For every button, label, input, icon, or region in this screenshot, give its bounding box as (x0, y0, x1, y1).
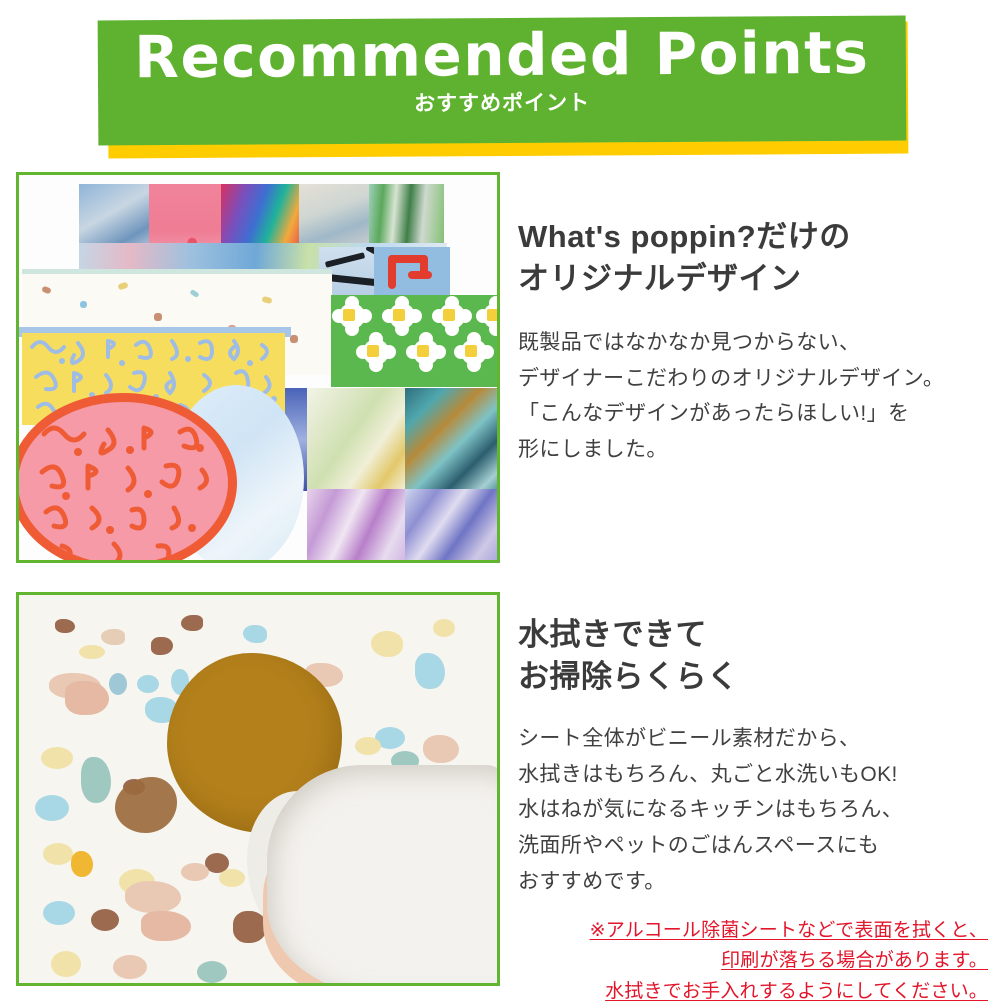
feature-2-caution-note: ※アルコール除菌シートなどで表面を拭くと、 印刷が落ちる場合があります。 水拭き… (518, 900, 988, 1008)
banner-text-group: Recommended Points おすすめポイント (98, 16, 907, 146)
squiggle-pattern-icon (22, 408, 232, 560)
sheet-flower-green (331, 295, 497, 387)
sheet-marble-purple (307, 489, 407, 560)
photo-canvas-wipe-demo (19, 595, 497, 983)
flower-center (417, 345, 429, 357)
terrazzo-chip (181, 863, 209, 881)
feature-1-heading: What's poppin?だけの オリジナルデザイン (518, 172, 988, 299)
terrazzo-chip (80, 301, 87, 308)
flower-center (487, 309, 497, 321)
flower-center (465, 345, 477, 357)
red-stroke (408, 271, 432, 279)
terrazzo-chip (189, 289, 199, 298)
flower-center (443, 309, 455, 321)
terrazzo-chip (197, 961, 227, 983)
page-subtitle: おすすめポイント (414, 87, 590, 118)
photo-canvas-design-sheets (19, 175, 497, 560)
terrazzo-chip (41, 747, 73, 769)
terrazzo-chip (125, 881, 181, 913)
feature-2-text-column: 水拭きできて お掃除らくらく シート全体がビニール素材だから、 水拭きはもちろん… (518, 592, 988, 1008)
feature-1-body: 既製品ではなかなか見つからない、 デザイナーこだわりのオリジナルデザイン。 「こ… (518, 299, 988, 468)
terrazzo-chip (154, 313, 162, 321)
terrazzo-chip (355, 737, 381, 755)
terrazzo-chip (219, 869, 245, 887)
feature-photo-design-sheets (16, 172, 500, 563)
sheet-round-pink-squiggle (19, 393, 237, 560)
terrazzo-chip (137, 675, 159, 693)
terrazzo-chip (117, 282, 128, 291)
terrazzo-chip (43, 901, 75, 925)
terrazzo-chip (261, 296, 272, 304)
feature-photo-wipe-demo (16, 592, 500, 986)
terrazzo-chip (91, 909, 119, 931)
terrazzo-chip (71, 851, 93, 877)
terrazzo-chip (415, 653, 445, 689)
page-title: Recommended Points (134, 24, 869, 88)
flower-center (393, 309, 405, 321)
feature-2-heading: 水拭きできて お掃除らくらく (518, 592, 988, 697)
sheet-marble-green-gold (307, 388, 407, 491)
flower-center (367, 345, 379, 357)
terrazzo-chip (101, 629, 125, 645)
sheet-marble-blue-violet (405, 489, 497, 560)
terrazzo-chip (141, 911, 191, 941)
terrazzo-chip (371, 631, 403, 657)
terrazzo-chip (243, 625, 267, 643)
sheet-marble-teal-gold (405, 388, 497, 491)
terrazzo-chip (43, 843, 73, 865)
terrazzo-chip (65, 681, 109, 715)
towel (267, 765, 497, 983)
feature-1-text-column: What's poppin?だけの オリジナルデザイン 既製品ではなかなか見つか… (518, 172, 988, 468)
feature-2-body: シート全体がビニール素材だから、 水拭きはもちろん、丸ごと水洗いもOK! 水はね… (518, 697, 988, 899)
terrazzo-chip (109, 673, 127, 695)
feature-section-original-design: What's poppin?だけの オリジナルデザイン 既製品ではなかなか見つか… (0, 172, 1000, 564)
terrazzo-chip (423, 735, 459, 763)
terrazzo-chip (81, 757, 111, 803)
terrazzo-chip (51, 951, 81, 977)
terrazzo-chip (79, 645, 105, 659)
terrazzo-chip (35, 795, 69, 821)
terrazzo-chip (433, 619, 455, 637)
sheet-red-line-art (374, 247, 450, 299)
terrazzo-chip (290, 335, 298, 343)
feature-section-wipeable: 水拭きできて お掃除らくらく シート全体がビニール素材だから、 水拭きはもちろん… (0, 592, 1000, 992)
terrazzo-chip (55, 619, 75, 633)
flower-center (343, 309, 355, 321)
brick-mark (325, 252, 365, 267)
terrazzo-chip (113, 955, 147, 979)
terrazzo-chip (181, 615, 203, 631)
terrazzo-chip (41, 286, 52, 295)
header-banner: Recommended Points おすすめポイント (0, 0, 1000, 170)
